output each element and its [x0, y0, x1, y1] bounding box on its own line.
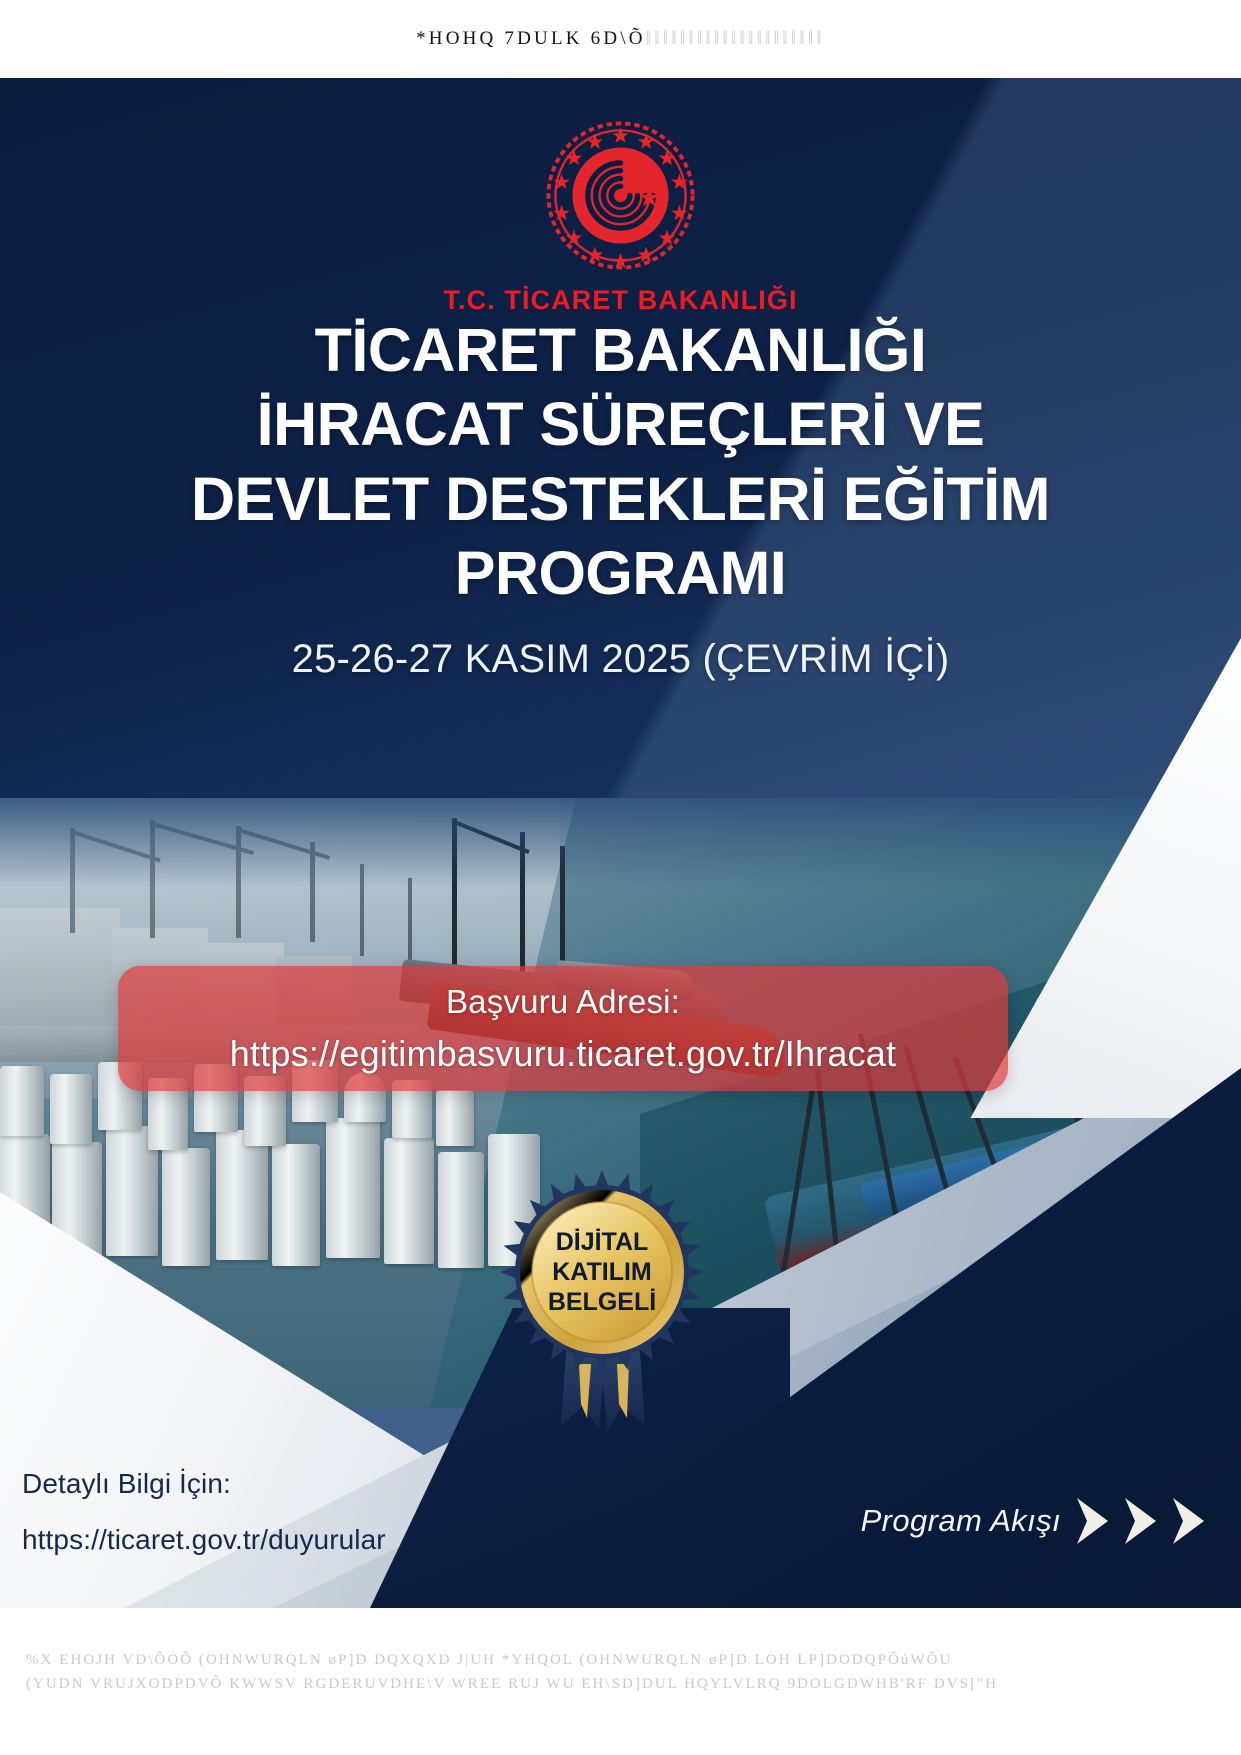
ebys-header-code: *HOHQ 7DULK 6D\Õ‖‖‖‖‖‖‖‖‖‖‖‖‖‖‖‖‖‖‖‖‖: [416, 28, 825, 50]
badge-line-3: BELGELİ: [548, 1288, 656, 1316]
program-flow-block: Program Akışı: [861, 1498, 1205, 1544]
ebys-header-bar: *HOHQ 7DULK 6D\Õ‖‖‖‖‖‖‖‖‖‖‖‖‖‖‖‖‖‖‖‖‖: [0, 0, 1241, 78]
ministry-logo-block: T.C. TİCARET BAKANLIĞI: [0, 118, 1241, 316]
digital-certificate-badge: DİJİTAL KATILIM BELGELİ: [487, 1168, 717, 1433]
chevron-right-icon: [1171, 1498, 1205, 1544]
photo-tank: [438, 1152, 484, 1268]
rosette-badge-icon: DİJİTAL KATILIM BELGELİ: [487, 1168, 717, 1433]
badge-line-1: DİJİTAL: [556, 1228, 649, 1256]
poster-title-block: TİCARET BAKANLIĞI İHRACAT SÜREÇLERİ VE D…: [0, 313, 1241, 682]
application-address-link[interactable]: https://egitimbasvuru.ticaret.gov.tr/Ihr…: [230, 1033, 896, 1075]
tc-ticaret-bakanligi-emblem-icon: [543, 118, 698, 273]
page-title-line-3: DEVLET DESTEKLERİ EĞİTİM: [70, 462, 1171, 536]
page-title-line-4: PROGRAMI: [70, 536, 1171, 610]
application-address-banner[interactable]: Başvuru Adresi: https://egitimbasvuru.ti…: [118, 966, 1008, 1091]
photo-tank: [0, 1066, 44, 1136]
photo-tank: [384, 1138, 434, 1264]
poster-page: *HOHQ 7DULK 6D\Õ‖‖‖‖‖‖‖‖‖‖‖‖‖‖‖‖‖‖‖‖‖: [0, 0, 1241, 1755]
chevron-right-icon: [1123, 1498, 1157, 1544]
ebys-footer-line-1: %X EHOJH VD\ÕOÕ (OHNWURQLN øP]D DQXQXD J…: [26, 1648, 1215, 1672]
poster-date-subtitle: 25-26-27 KASIM 2025 (ÇEVRİM İÇİ): [70, 637, 1171, 682]
page-title-line-2: İHRACAT SÜREÇLERİ VE: [70, 387, 1171, 461]
ebys-header-code-faint: ‖‖‖‖‖‖‖‖‖‖‖‖‖‖‖‖‖‖‖‖‖: [646, 28, 825, 49]
ebys-footer-line-2: (YUDN VRUJXODPDVÕ KWWSV RGDERUVDHE\V WRE…: [26, 1672, 1215, 1696]
chevron-right-icon: [1075, 1498, 1109, 1544]
photo-tank: [216, 1130, 268, 1260]
program-flow-label: Program Akışı: [861, 1503, 1061, 1539]
photo-tank: [272, 1144, 320, 1266]
badge-line-2: KATILIM: [552, 1258, 652, 1286]
detail-info-label: Detaylı Bilgi İçin:: [22, 1468, 522, 1500]
application-address-label: Başvuru Adresi:: [446, 983, 680, 1021]
photo-tank: [326, 1118, 380, 1258]
poster-canvas: T.C. TİCARET BAKANLIĞI TİCARET BAKANLIĞI…: [0, 78, 1241, 1608]
page-title-line-1: TİCARET BAKANLIĞI: [70, 313, 1171, 387]
photo-tank: [162, 1148, 210, 1266]
photo-tank: [50, 1074, 92, 1144]
detail-info-block: Detaylı Bilgi İçin: https://ticaret.gov.…: [22, 1468, 522, 1556]
photo-tank: [436, 1090, 474, 1146]
detail-info-link[interactable]: https://ticaret.gov.tr/duyurular: [22, 1524, 522, 1556]
ebys-footer-bar: %X EHOJH VD\ÕOÕ (OHNWURQLN øP]D DQXQXD J…: [0, 1608, 1241, 1755]
ministry-logo-label: T.C. TİCARET BAKANLIĞI: [443, 285, 797, 316]
photo-top-fade: [0, 798, 1241, 888]
